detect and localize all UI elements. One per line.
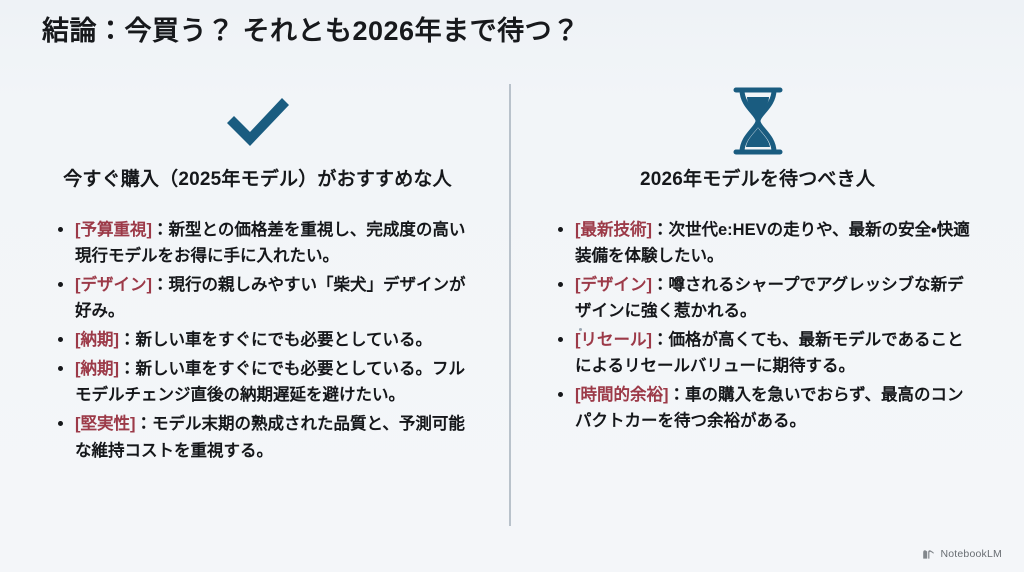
right-column-heading: 2026年モデルを待つべき人: [530, 164, 985, 191]
column-divider: [509, 84, 511, 526]
notebooklm-watermark: NotebookLM: [922, 548, 1002, 560]
bullet-separator: ：: [119, 331, 136, 349]
hourglass-icon: [530, 84, 985, 158]
bullet-tag: [納期]: [75, 331, 119, 349]
bullet-tag: [デザイン]: [75, 276, 152, 294]
bullet-separator: ：: [136, 415, 153, 433]
slide-root: 結論：今買う？ それとも2026年まで待つ？ 今すぐ購入（2025年モデル）がお…: [0, 0, 1024, 572]
bullet-separator: ：: [652, 331, 669, 349]
notebooklm-logo-icon: [922, 549, 935, 560]
list-item: [リセール]：価格が高くても、最新モデルであることによるリセールバリューに期待す…: [558, 327, 979, 379]
stray-dot-artifact: [579, 328, 582, 331]
left-column-heading: 今すぐ購入（2025年モデル）がおすすめな人: [30, 164, 485, 191]
bullet-tag: [納期]: [75, 360, 119, 378]
list-item: [納期]：新しい車をすぐにでも必要としている。: [58, 327, 479, 353]
list-item: [デザイン]：現行の親しみやすい「柴犬」デザインが好み。: [58, 272, 479, 324]
bullet-tag: [予算重視]: [75, 221, 152, 239]
bullet-separator: ：: [652, 221, 669, 239]
list-item: [納期]：新しい車をすぐにでも必要としている。フルモデルチェンジ直後の納期遅延を…: [58, 356, 479, 408]
bullet-separator: ：: [652, 276, 669, 294]
page-title: 結論：今買う？ それとも2026年まで待つ？: [42, 13, 580, 49]
bullet-text: 新しい車をすぐにでも必要としている。: [136, 331, 433, 349]
bullet-tag: [最新技術]: [575, 221, 652, 239]
list-item: [最新技術]：次世代e:HEVの走りや、最新の安全・快適装備を体験したい。: [558, 217, 979, 269]
list-item: [時間的余裕]：車の購入を急いでおらず、最高のコンパクトカーを待つ余裕がある。: [558, 382, 979, 434]
bullet-separator: ：: [119, 360, 136, 378]
list-item: [予算重視]：新型との価格差を重視し、完成度の高い現行モデルをお得に手に入れたい…: [58, 217, 479, 269]
bullet-tag: [堅実性]: [75, 415, 136, 433]
check-icon: [30, 84, 485, 158]
bullet-separator: ：: [152, 276, 169, 294]
list-item: [堅実性]：モデル末期の熟成された品質と、予測可能な維持コストを重視する。: [58, 411, 479, 463]
bullet-tag: [リセール]: [575, 331, 652, 349]
bullet-separator: ：: [669, 386, 686, 404]
list-item: [デザイン]：噂されるシャープでアグレッシブな新デザインに強く惹かれる。: [558, 272, 979, 324]
bullet-tag: [時間的余裕]: [575, 386, 669, 404]
watermark-label: NotebookLM: [940, 548, 1002, 560]
bullet-separator: ：: [152, 221, 169, 239]
bullet-tag: [デザイン]: [575, 276, 652, 294]
left-column: 今すぐ購入（2025年モデル）がおすすめな人 [予算重視]：新型との価格差を重視…: [30, 84, 485, 467]
right-column: 2026年モデルを待つべき人 [最新技術]：次世代e:HEVの走りや、最新の安全…: [530, 84, 985, 438]
left-bullet-list: [予算重視]：新型との価格差を重視し、完成度の高い現行モデルをお得に手に入れたい…: [30, 217, 485, 464]
right-bullet-list: [最新技術]：次世代e:HEVの走りや、最新の安全・快適装備を体験したい。 [デ…: [530, 217, 985, 435]
